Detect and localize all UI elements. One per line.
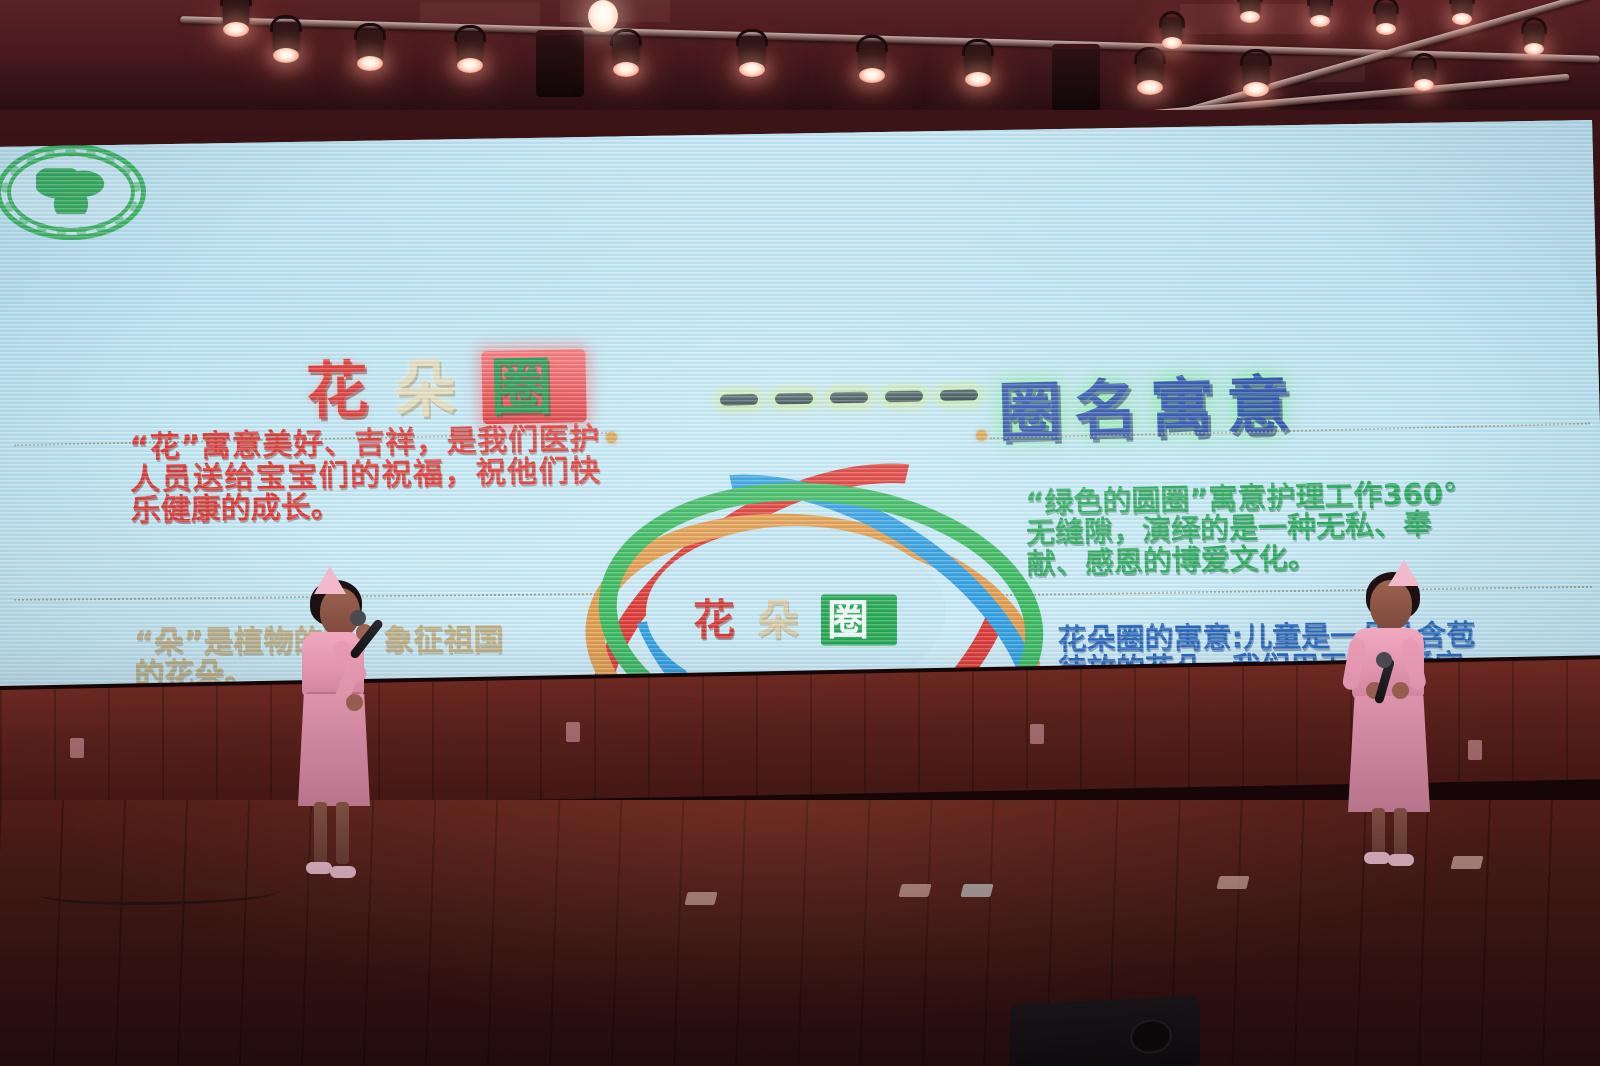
leg bbox=[314, 802, 327, 864]
text-block-top-left: “花”寓意美好、吉祥，是我们医护人员送给宝宝们的祝福，祝他们快乐健康的成长。 bbox=[129, 423, 601, 527]
dash-mark bbox=[940, 389, 978, 401]
wall-outlet bbox=[1468, 740, 1482, 760]
skirt bbox=[1348, 696, 1430, 812]
hand bbox=[346, 694, 363, 711]
leg bbox=[1394, 808, 1407, 860]
ring-center-label: 花朵圈 bbox=[693, 587, 897, 648]
title-char-duo: 朵 bbox=[393, 351, 483, 426]
performer-nurse-left bbox=[284, 566, 404, 886]
wall-outlet bbox=[1030, 724, 1044, 744]
shoe bbox=[1364, 852, 1390, 864]
ring-char-quan: 圈 bbox=[821, 595, 897, 646]
wall-outlet bbox=[566, 722, 580, 742]
leg bbox=[336, 802, 349, 864]
slide-title-right: 圈名寓意 bbox=[997, 354, 1303, 454]
skirt bbox=[298, 694, 370, 806]
connector-dot bbox=[606, 432, 617, 443]
shoe bbox=[1388, 854, 1414, 866]
slide-title-left: 花朵圈 bbox=[305, 335, 587, 431]
dash-mark bbox=[885, 390, 923, 402]
ceiling-downlight bbox=[588, 0, 618, 32]
stage-monitor-speaker bbox=[1010, 995, 1200, 1066]
dash-mark bbox=[720, 394, 758, 406]
stage-spotlight bbox=[1052, 44, 1100, 111]
wall-outlet bbox=[70, 738, 84, 758]
title-char-hua: 花 bbox=[305, 353, 395, 428]
shoe bbox=[330, 866, 356, 878]
shoe bbox=[306, 862, 332, 874]
performer-nurse-right bbox=[1336, 560, 1456, 870]
stage-scene: 花朵圈 圈名寓意 “花”寓意美好、吉祥，是我们医护人员送给宝宝们的祝福，祝他们快… bbox=[0, 0, 1600, 1066]
hospital-logo-icon bbox=[0, 144, 146, 240]
ring-char-hua: 花 bbox=[693, 596, 757, 645]
hand bbox=[1392, 682, 1409, 699]
ring-char-duo: 朵 bbox=[757, 596, 821, 645]
floor-tape-marker bbox=[684, 892, 717, 905]
title-char-quan: 圈 bbox=[481, 349, 587, 424]
microphone-head bbox=[350, 610, 366, 626]
head bbox=[1370, 580, 1412, 630]
dash-mark bbox=[830, 392, 868, 404]
dash-mark bbox=[775, 393, 813, 405]
floor-tape-marker bbox=[1216, 876, 1249, 889]
connector-dot bbox=[976, 430, 987, 441]
microphone-head bbox=[1376, 652, 1392, 668]
stage-spotlight bbox=[536, 30, 584, 97]
floor-tape-marker bbox=[960, 884, 993, 897]
floor-tape-marker bbox=[898, 884, 931, 897]
